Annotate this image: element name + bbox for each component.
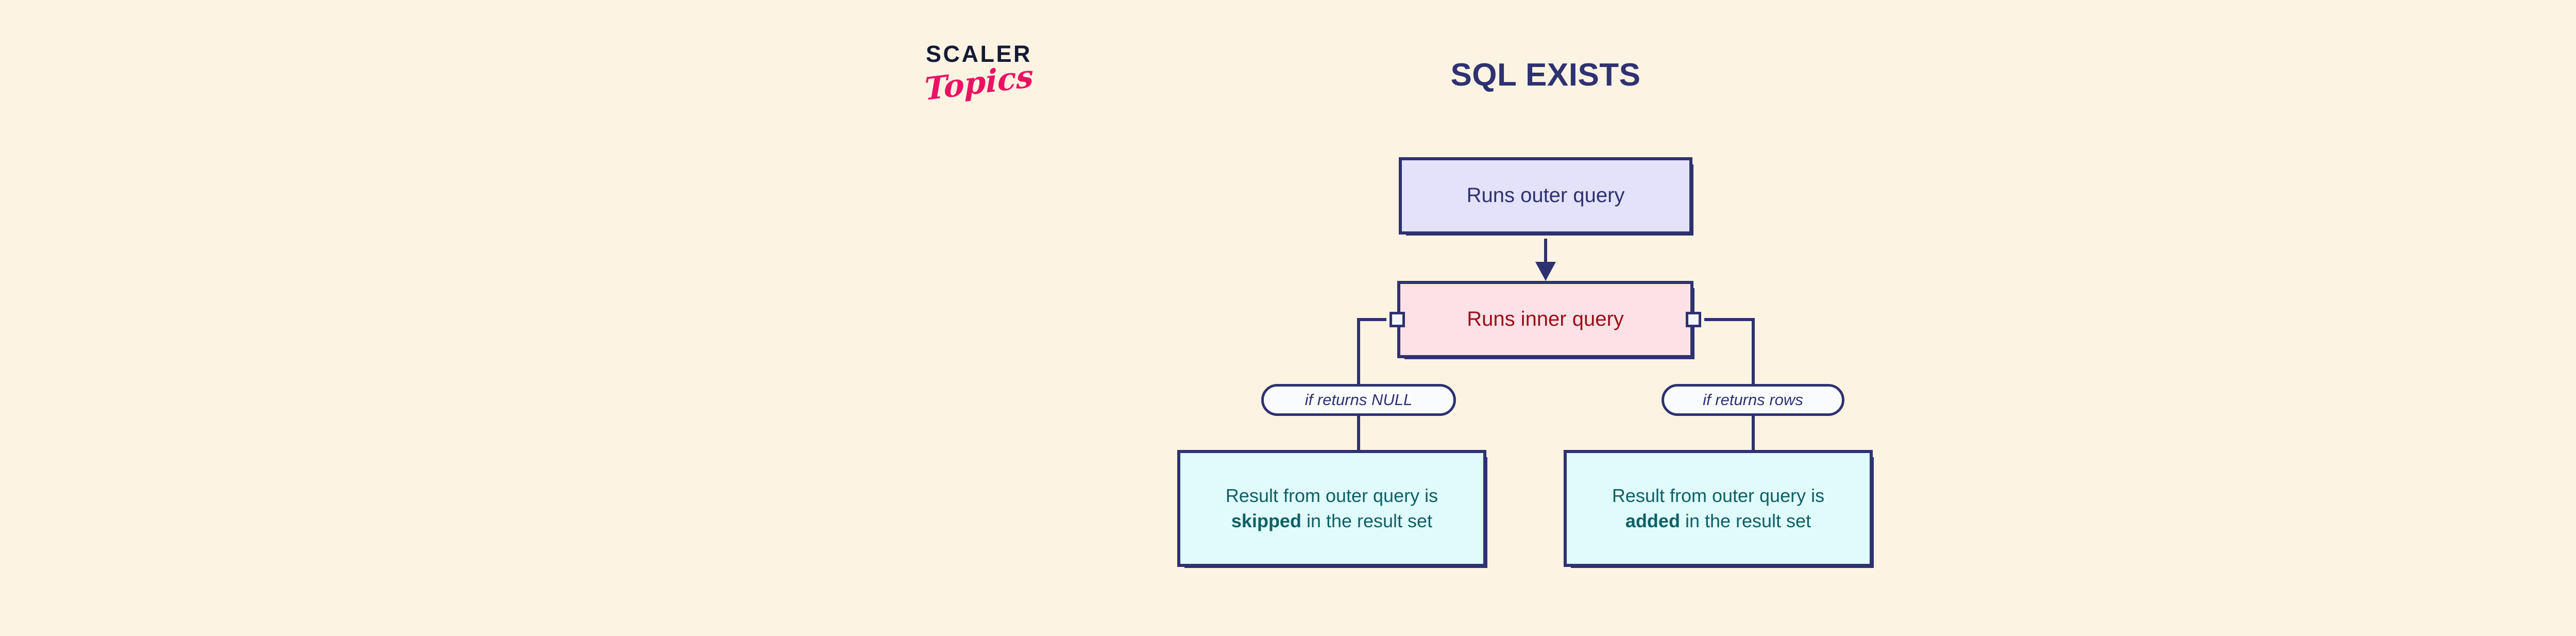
node-runs-outer-query[interactable]: Runs outer query [1399,157,1692,235]
edge-outer-to-inner [1535,239,1556,281]
edge-label-text: if returns rows [1703,391,1803,409]
node-label-result-added: Result from outer query is added in the … [1612,483,1824,533]
edge-label-if-returns-null[interactable]: if returns NULL [1261,384,1456,416]
node-result-skipped[interactable]: Result from outer query is skipped in th… [1177,450,1486,567]
node-result-added[interactable]: Result from outer query is added in the … [1564,450,1873,567]
edge-inner-to-null [1359,320,1386,384]
result-emphasis: added [1625,510,1680,531]
result-line-1: Result from outer query is [1226,485,1438,506]
flowchart-diagram: Runs outer query Runs inner query if ret… [0,0,2576,636]
result-line-1: Result from outer query is [1612,485,1824,506]
node-label-result-skipped: Result from outer query is skipped in th… [1226,483,1438,533]
node-runs-inner-query[interactable]: Runs inner query [1397,281,1693,358]
result-line-2-tail: in the result set [1680,510,1811,531]
edge-inner-to-rows [1704,320,1753,384]
connector-port-left [1389,312,1405,327]
node-label-outer-query: Runs outer query [1467,182,1625,210]
connector-port-right [1686,312,1701,327]
result-line-2-tail: in the result set [1301,510,1432,531]
edge-label-if-returns-rows[interactable]: if returns rows [1662,384,1844,416]
node-label-inner-query: Runs inner query [1467,306,1624,333]
edge-label-text: if returns NULL [1305,391,1412,409]
result-emphasis: skipped [1231,510,1301,531]
